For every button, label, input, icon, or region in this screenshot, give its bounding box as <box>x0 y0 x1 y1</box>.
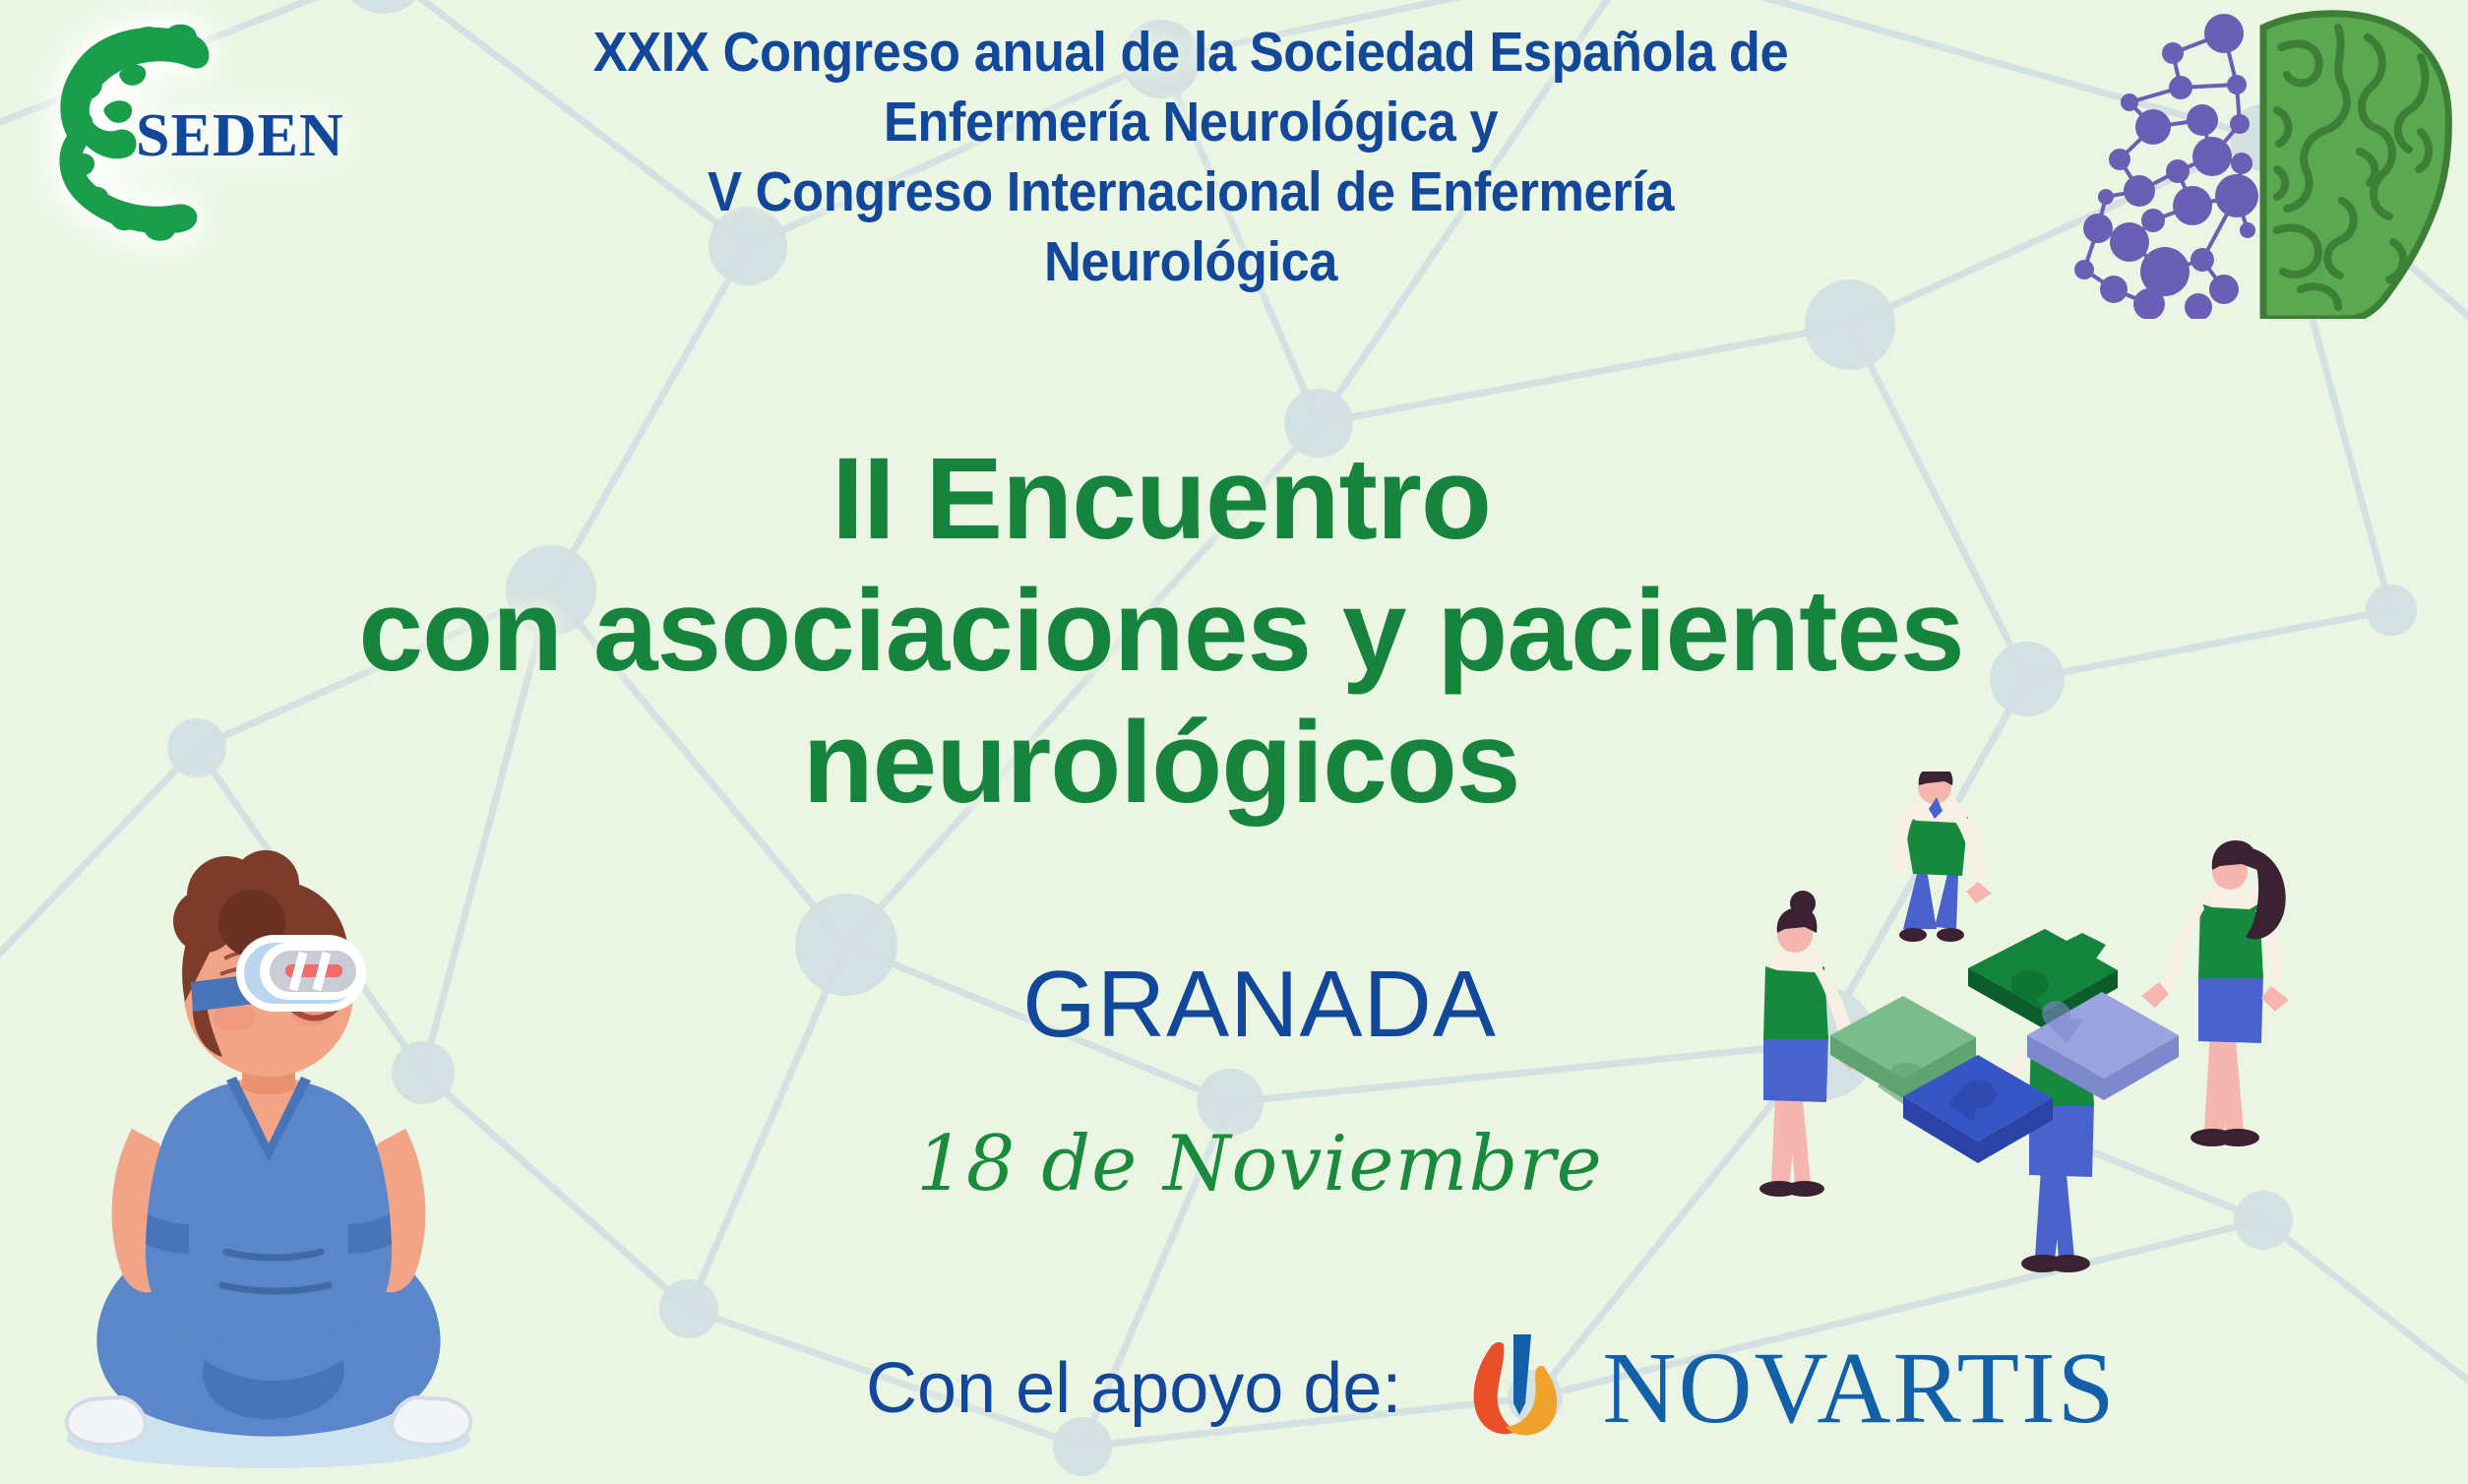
conference-poster: SEDENE XXIX Congreso anual de la Socieda… <box>0 0 2468 1484</box>
sedene-wordmark: SEDENE <box>136 102 344 169</box>
page-title: II Encuentro con asociaciones y paciente… <box>118 433 2204 829</box>
sponsor-label: Con el apoyo de: <box>866 1346 1401 1431</box>
sedene-logo: SEDENE <box>30 10 344 256</box>
poster-text-content: XXIX Congreso anual de la Sociedad Españ… <box>0 0 2468 1484</box>
header-line-4: Neurológica <box>484 227 1896 297</box>
novartis-flame-icon <box>1460 1330 1576 1447</box>
novartis-wordmark: NOVARTIS <box>1602 1337 2116 1440</box>
title-line-2: con asociaciones y pacientes <box>118 565 2204 697</box>
header-line-3: V Congreso Internacional de Enfermería <box>484 157 1896 227</box>
title-line-3: neurológicos <box>118 697 2204 829</box>
city-label: GRANADA <box>423 950 2096 1060</box>
novartis-logo: NOVARTIS <box>1460 1330 2116 1447</box>
congress-header: XXIX Congreso anual de la Sociedad Españ… <box>423 18 1958 297</box>
header-line-1: XXIX Congreso anual de la Sociedad Españ… <box>484 18 1896 88</box>
header-line-2: Enfermería Neurológica y <box>484 88 1896 157</box>
date-label: 18 de Noviembre <box>423 1117 2096 1211</box>
sponsor-row: Con el apoyo de: NOVARTIS <box>866 1330 2117 1447</box>
title-line-1: II Encuentro <box>118 433 2204 565</box>
